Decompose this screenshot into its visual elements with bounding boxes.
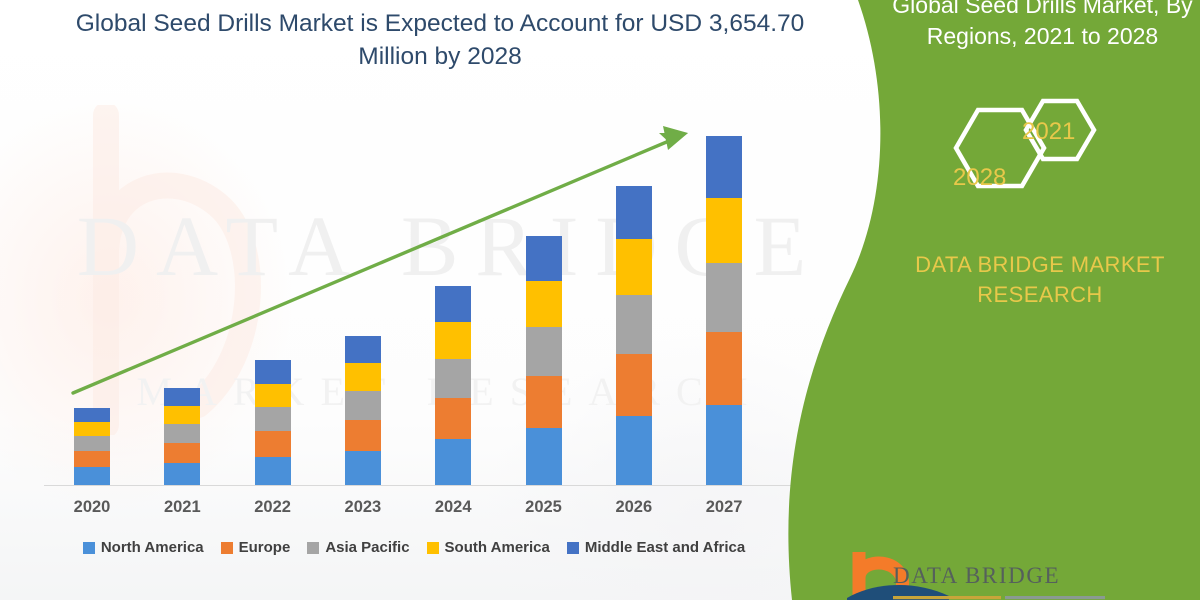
legend-swatch-icon [567,542,579,554]
bar-segment [74,436,110,451]
legend-item[interactable]: Middle East and Africa [567,539,745,556]
bar-segment [74,422,110,436]
bar-segment [164,443,200,463]
bar-segment [526,376,562,428]
bar-2020 [74,408,110,485]
bar-segment [345,451,381,485]
footer-logo-text: DATA BRIDGE [893,563,1060,589]
bar-segment [435,398,471,439]
bar-segment [706,405,742,485]
bar-segment [706,198,742,263]
bar-segment [616,186,652,239]
bar-2021 [164,388,200,485]
bar-segment [526,428,562,485]
bar-segment [74,451,110,467]
bar-segment [255,360,291,384]
bar-segment [706,136,742,198]
x-axis-label-2023: 2023 [328,498,398,517]
bar-segment [616,239,652,295]
bar-segment [616,295,652,354]
bar-segment [255,384,291,407]
legend-label: North America [101,539,204,556]
x-axis-label-2021: 2021 [147,498,217,517]
brand-name: DATA BRIDGE MARKET RESEARCH [880,250,1200,309]
bar-2022 [255,360,291,485]
bar-segment [164,463,200,485]
bar-segment [164,406,200,424]
bar-segment [74,408,110,422]
legend-label: Asia Pacific [325,539,409,556]
hexagon-pair-graphic [930,88,1120,228]
legend-item[interactable]: South America [427,539,550,556]
bar-segment [74,467,110,485]
legend-item[interactable]: Europe [221,539,291,556]
bar-segment [255,431,291,457]
bar-segment [164,388,200,406]
bar-2023 [345,336,381,485]
legend-item[interactable]: North America [83,539,204,556]
legend-label: Middle East and Africa [585,539,745,556]
infographic-canvas: DATA BRIDGE MARKET RESEARCH Global Seed … [0,0,1200,600]
legend-swatch-icon [307,542,319,554]
x-axis-label-2024: 2024 [418,498,488,517]
bar-segment [526,327,562,376]
bar-segment [345,363,381,391]
legend-label: South America [445,539,550,556]
bar-2026 [616,186,652,485]
bar-segment [706,263,742,332]
bar-segment [435,359,471,398]
x-axis-label-2022: 2022 [238,498,308,517]
stacked-bar-chart: 20202021202220232024202520262027 [0,0,830,600]
legend-label: Europe [239,539,291,556]
bar-segment [345,420,381,451]
green-panel-title: Global Seed Drills Market, By Regions, 2… [885,0,1200,51]
bar-2024 [435,286,471,485]
bar-segment [255,407,291,431]
x-axis-label-2026: 2026 [599,498,669,517]
bar-segment [526,281,562,327]
legend-swatch-icon [221,542,233,554]
x-axis-label-2025: 2025 [509,498,579,517]
bar-segment [616,354,652,416]
bar-segment [255,457,291,485]
legend-item[interactable]: Asia Pacific [307,539,409,556]
bar-segment [435,439,471,485]
bar-segment [345,336,381,363]
bar-segment [345,391,381,420]
bar-segment [526,236,562,281]
bar-segment [435,322,471,359]
bar-segment [706,332,742,405]
legend-swatch-icon [427,542,439,554]
legend-swatch-icon [83,542,95,554]
hexagon-2028-label: 2028 [953,164,1006,192]
bar-segment [164,424,200,443]
bar-2025 [526,236,562,485]
bar-2027 [706,136,742,485]
x-axis-label-2027: 2027 [689,498,759,517]
bar-segment [435,286,471,322]
hexagon-2021-label: 2021 [1022,118,1075,146]
chart-legend: North AmericaEuropeAsia PacificSouth Ame… [44,539,784,556]
x-axis-label-2020: 2020 [57,498,127,517]
chart-baseline [44,485,814,486]
bar-segment [616,416,652,485]
